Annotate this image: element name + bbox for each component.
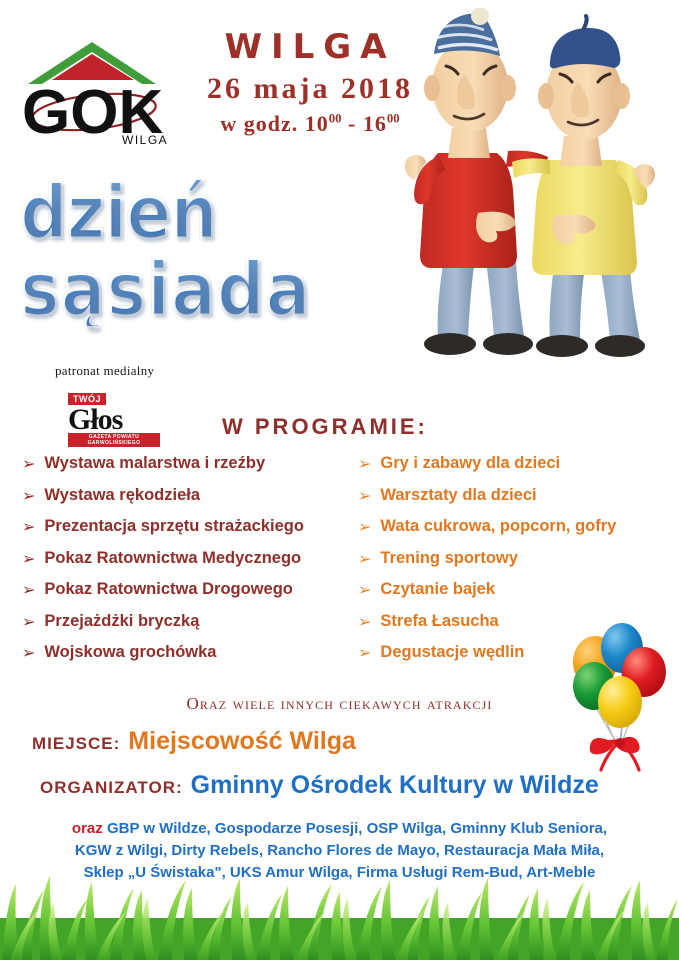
list-item-label: Prezentacja sprzętu strażackiego <box>44 518 304 535</box>
organizer-label: ORGANIZATOR: <box>40 778 183 798</box>
programme-heading: W PROGRAMIE: <box>222 414 428 440</box>
list-item: ➢Prezentacja sprzętu strażackiego <box>22 518 362 535</box>
page-title-line2: sąsiada <box>20 255 440 326</box>
sponsor-names-1: GBP w Wildze, Gospodarze Posesji, OSP Wi… <box>107 820 607 837</box>
bullet-arrow-icon: ➢ <box>22 488 35 504</box>
programme-list-left: ➢Wystawa malarstwa i rzeźby ➢Wystawa ręk… <box>22 455 362 676</box>
list-item-label: Warsztaty dla dzieci <box>380 487 536 504</box>
list-item: ➢Wojskowa grochówka <box>22 644 362 661</box>
twoj-glos-logo: TWÓJ Głos GAZETA POWIATU GARWOLIŃSKIEGO <box>68 389 164 441</box>
glos-logo-main: Głos <box>68 406 164 435</box>
list-item-label: Trening sportowy <box>380 550 518 567</box>
bullet-arrow-icon: ➢ <box>358 614 371 630</box>
list-item: ➢Gry i zabawy dla dzieci <box>358 455 678 472</box>
bullet-arrow-icon: ➢ <box>22 519 35 535</box>
bullet-arrow-icon: ➢ <box>22 645 35 661</box>
organizer-value: Gminny Ośrodek Kultury w Wildze <box>191 771 599 800</box>
organizer-row: ORGANIZATOR: Gminny Ośrodek Kultury w Wi… <box>40 771 599 800</box>
list-item-label: Przejażdżki bryczką <box>44 613 199 630</box>
bullet-arrow-icon: ➢ <box>358 582 371 598</box>
bullet-arrow-icon: ➢ <box>22 456 35 472</box>
list-item-label: Gry i zabawy dla dzieci <box>380 455 560 472</box>
place-row: MIEJSCE: Miejscowość Wilga <box>32 727 356 756</box>
list-item: ➢Wystawa rękodzieła <box>22 487 362 504</box>
list-item: ➢Warsztaty dla dzieci <box>358 487 678 504</box>
sponsors-block: oraz GBP w Wildze, Gospodarze Posesji, O… <box>0 818 679 883</box>
list-item-label: Wata cukrowa, popcorn, gofry <box>380 518 616 535</box>
list-item: ➢Pokaz Ratownictwa Drogowego <box>22 581 362 598</box>
claymation-characters-illustration <box>404 8 676 368</box>
list-item: ➢Czytanie bajek <box>358 581 678 598</box>
list-item: ➢Trening sportowy <box>358 550 678 567</box>
list-item-label: Wystawa rękodzieła <box>44 487 200 504</box>
list-item: ➢Przejażdżki bryczką <box>22 613 362 630</box>
sponsor-line-2: KGW z Wilgi, Dirty Rebels, Rancho Flores… <box>0 840 679 862</box>
page-title-line1: Dzień <box>20 178 440 249</box>
list-item-label: Pokaz Ratownictwa Drogowego <box>44 581 292 598</box>
hours-sup-close: 00 <box>387 111 400 125</box>
sponsor-line-1: oraz GBP w Wildze, Gospodarze Posesji, O… <box>0 818 679 840</box>
gok-logo-subtitle: WILGA <box>122 133 168 147</box>
hours-sup-open: 00 <box>329 111 342 125</box>
list-item-label: Strefa Łasucha <box>380 613 498 630</box>
list-item: ➢Pokaz Ratownictwa Medycznego <box>22 550 362 567</box>
sponsor-line-3: Sklep „U Świstaka", UKS Amur Wilga, Firm… <box>0 862 679 884</box>
list-item: ➢Wystawa malarstwa i rzeźby <box>22 455 362 472</box>
list-item-label: Wojskowa grochówka <box>44 644 216 661</box>
bullet-arrow-icon: ➢ <box>358 645 371 661</box>
bullet-arrow-icon: ➢ <box>358 456 371 472</box>
list-item: ➢Wata cukrowa, popcorn, gofry <box>358 518 678 535</box>
bullet-arrow-icon: ➢ <box>22 582 35 598</box>
place-value: Miejscowość Wilga <box>128 727 356 756</box>
bullet-arrow-icon: ➢ <box>22 551 35 567</box>
bullet-arrow-icon: ➢ <box>22 614 35 630</box>
sponsors-prefix: oraz <box>72 820 103 837</box>
gok-logo: GOK WILGA <box>18 32 186 147</box>
page-title: Dzień sąsiada <box>20 178 440 326</box>
list-item-label: Pokaz Ratownictwa Medycznego <box>44 550 301 567</box>
poster-canvas: GOK WILGA WILGA 26 maja 2018 w godz. 100… <box>0 0 679 960</box>
place-label: MIEJSCE: <box>32 734 120 754</box>
extra-attractions-note: Oraz wiele innych ciekawych atrakcji <box>0 694 679 714</box>
bullet-arrow-icon: ➢ <box>358 519 371 535</box>
list-item-label: Degustacje wędlin <box>380 644 524 661</box>
bullet-arrow-icon: ➢ <box>358 551 371 567</box>
list-item-label: Czytanie bajek <box>380 581 495 598</box>
list-item-label: Wystawa malarstwa i rzeźby <box>44 455 265 472</box>
patronage-label: patronat medialny <box>55 363 154 379</box>
bullet-arrow-icon: ➢ <box>358 488 371 504</box>
